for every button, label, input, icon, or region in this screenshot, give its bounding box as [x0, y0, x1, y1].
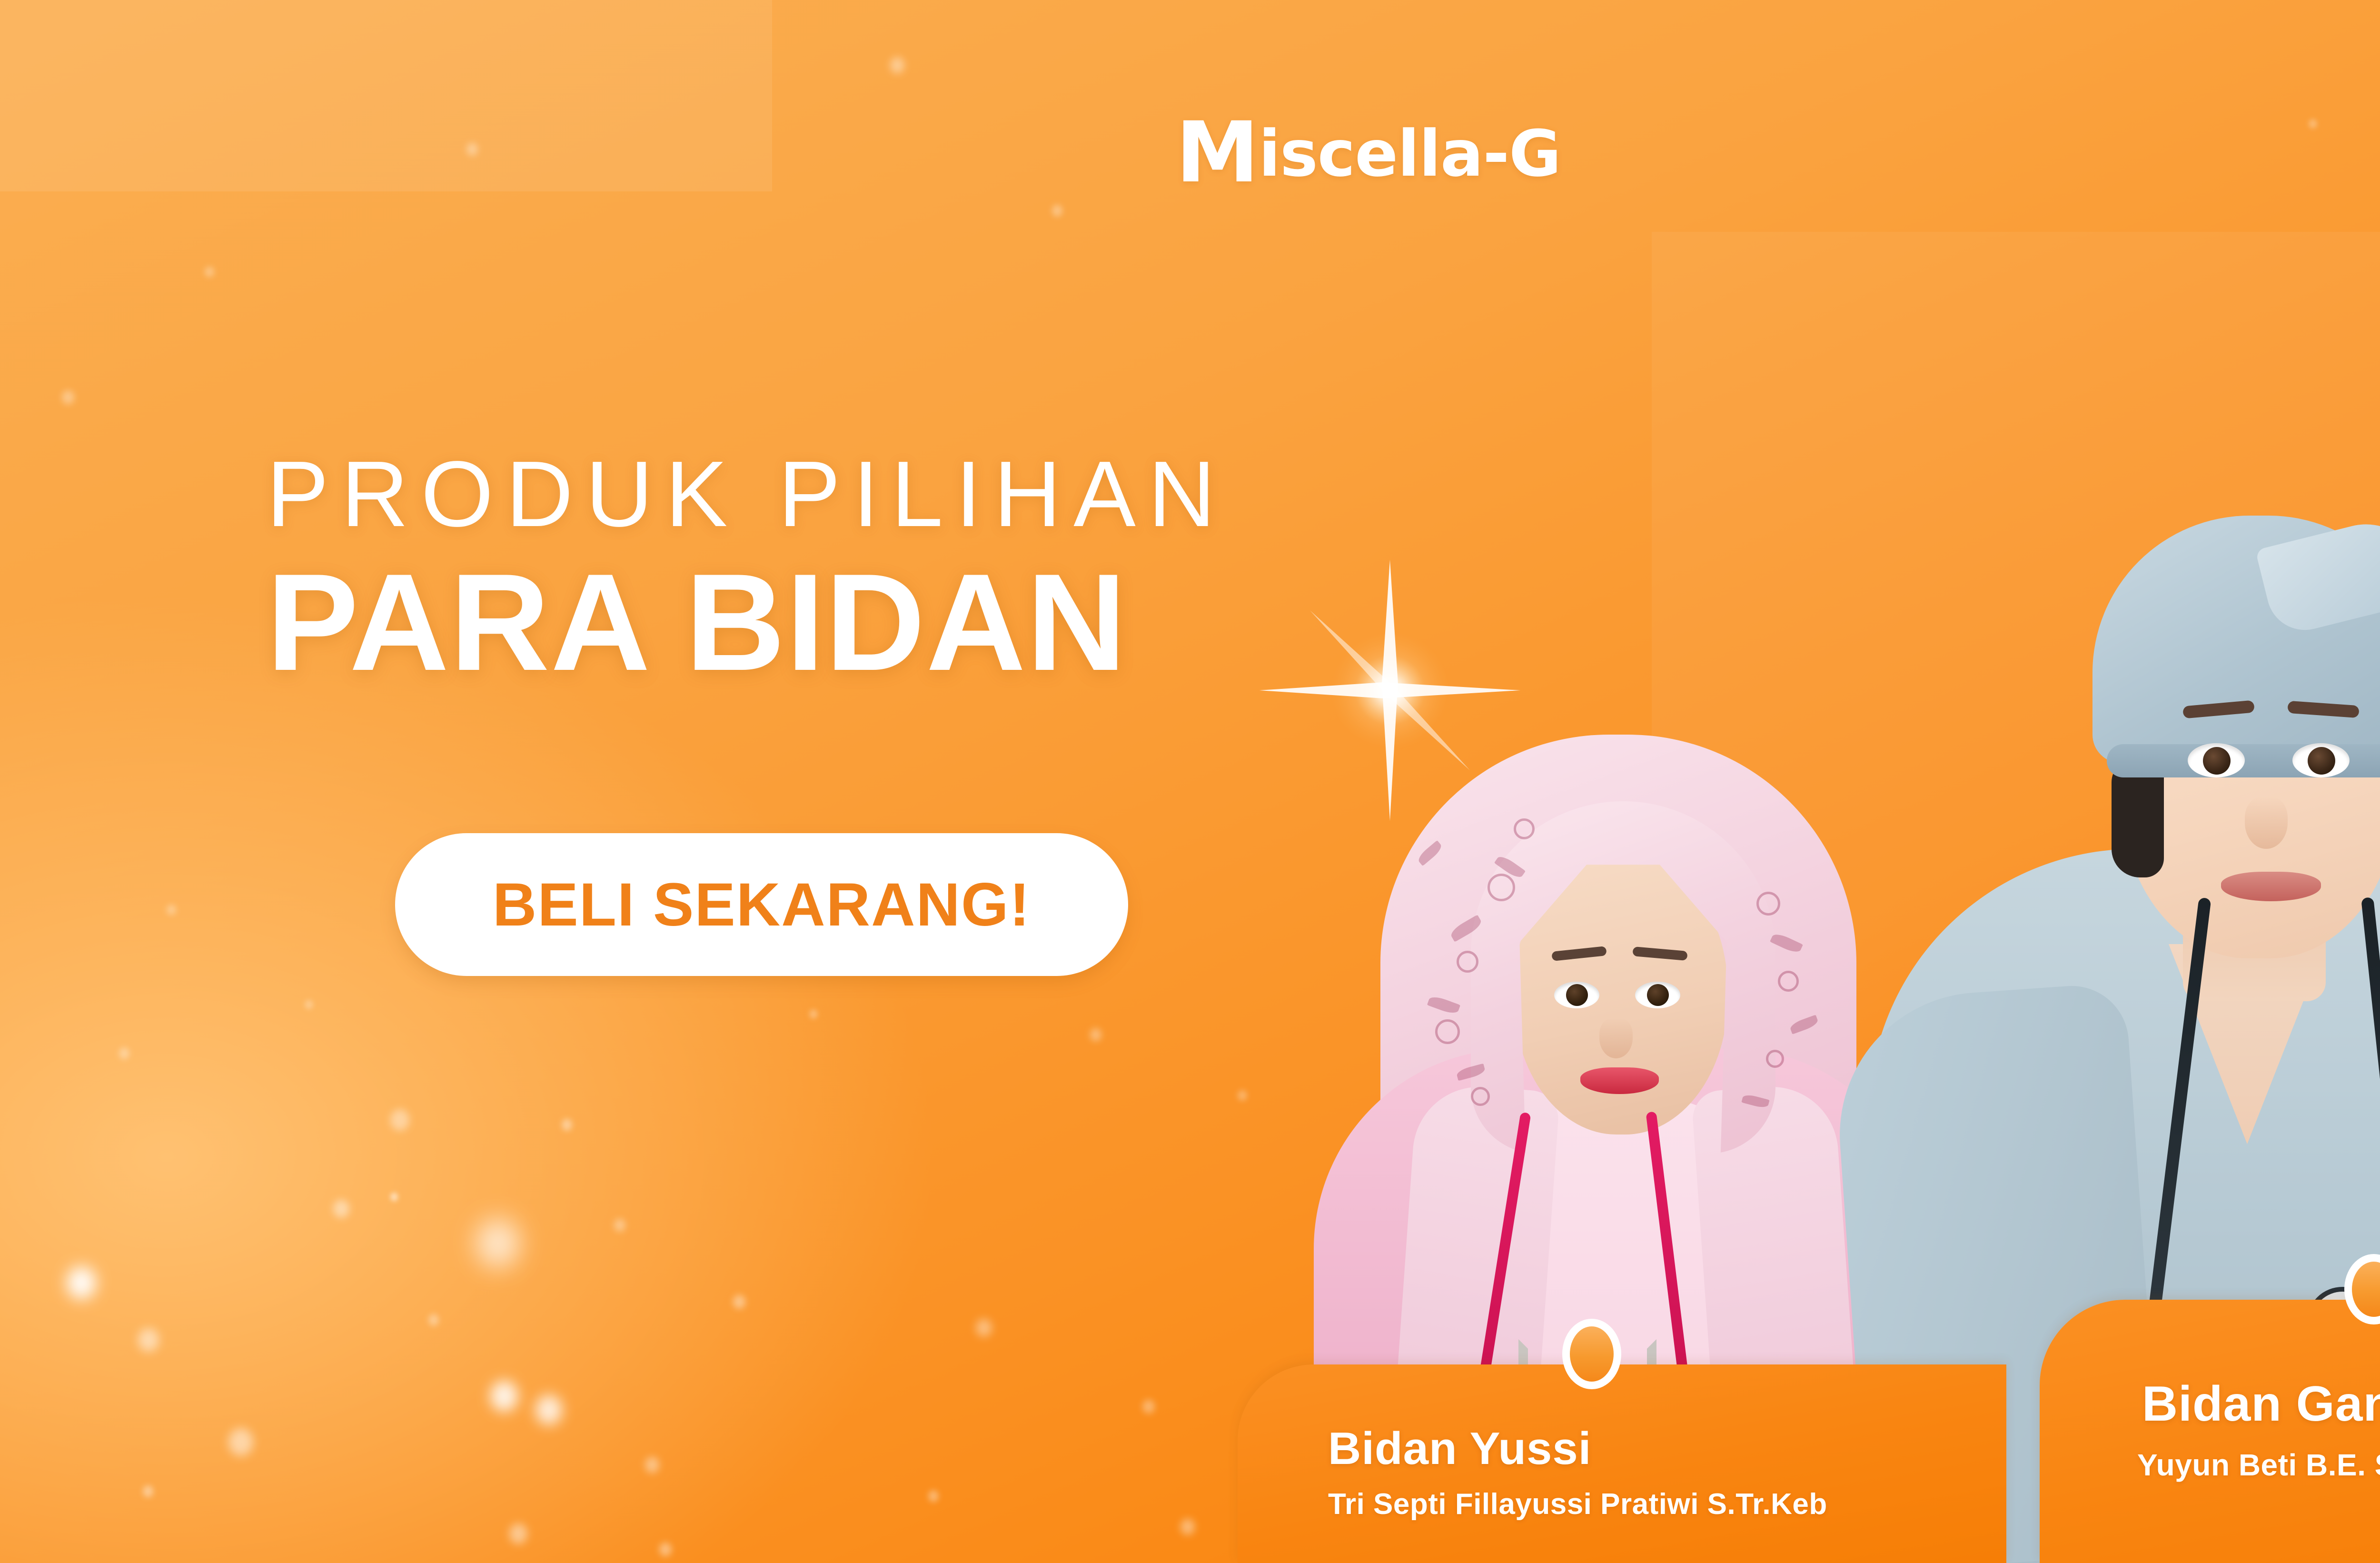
bokeh-dot-icon [928, 1490, 939, 1502]
name-card-subtitle: Yuyun Beti B.E. STr. Keb. Bdn. [2137, 1447, 2380, 1483]
bokeh-dot-icon [2309, 119, 2317, 129]
bokeh-dot-icon [119, 1047, 129, 1059]
beli-sekarang-button-label: BELI SEKARANG! [493, 870, 1031, 940]
bokeh-dot-icon [614, 1219, 625, 1232]
bokeh-dot-icon [1238, 1090, 1247, 1101]
headline-line-1: PRODUK PILIHAN [267, 448, 1228, 541]
bokeh-dot-icon [333, 1200, 349, 1218]
bokeh-dot-icon [466, 143, 478, 156]
name-card-title: Bidan Ganteng [2142, 1376, 2380, 1433]
bokeh-dot-icon [1142, 1400, 1155, 1414]
brand-logo-rest: iscella-G [1259, 117, 1561, 191]
bokeh-dot-icon [890, 57, 904, 73]
hijab-leaf-motif [1416, 840, 1444, 866]
brand-logo-cap: M [1176, 104, 1259, 201]
bokeh-dot-icon [562, 1119, 572, 1131]
bokeh-dot-icon [138, 1328, 159, 1352]
bokeh-dot-icon [390, 1193, 398, 1201]
bokeh-dot-icon [428, 1314, 439, 1326]
bokeh-dot-icon [62, 390, 74, 404]
bokeh-dot-icon [167, 905, 176, 915]
headline-line-2: PARA BIDAN [267, 553, 1228, 691]
bokeh-dot-icon [659, 1543, 672, 1556]
promo-banner: Miscella-G PRODUK PILIHAN PARA BIDAN BEL… [0, 0, 2380, 1563]
bokeh-dot-icon [509, 1523, 527, 1544]
bokeh-dot-icon [476, 1219, 520, 1268]
bokeh-dot-icon [305, 1000, 313, 1009]
bokeh-dot-icon [143, 1485, 153, 1497]
background-panel-top-left [0, 0, 772, 191]
bokeh-dot-icon [976, 1319, 992, 1337]
bokeh-dot-icon [1090, 1028, 1101, 1041]
bokeh-dot-icon [1052, 205, 1062, 217]
headline-block: PRODUK PILIHAN PARA BIDAN [267, 448, 1228, 691]
beli-sekarang-button[interactable]: BELI SEKARANG! [395, 833, 1128, 976]
name-card-subtitle: Tri Septi Fillayussi Pratiwi S.Tr.Keb [1328, 1487, 1827, 1521]
bokeh-dot-icon [228, 1428, 253, 1456]
name-card-title: Bidan Yussi [1328, 1423, 1591, 1475]
bokeh-dot-icon [1180, 1519, 1195, 1535]
name-card-bidan-ganteng[interactable]: Bidan Ganteng Yuyun Beti B.E. STr. Keb. … [2040, 1300, 2380, 1563]
bokeh-dot-icon [809, 1009, 818, 1019]
ganteng-surgical-cap-fold [2255, 512, 2380, 638]
name-card-bidan-yussi[interactable]: Bidan Yussi Tri Septi Fillayussi Pratiwi… [1238, 1364, 2006, 1563]
bokeh-dot-icon [535, 1395, 562, 1425]
bokeh-dot-icon [205, 267, 214, 277]
bokeh-dot-icon [390, 1109, 409, 1131]
bokeh-dot-icon [733, 1295, 745, 1309]
brand-logo[interactable]: Miscella-G [1176, 117, 1561, 191]
card-marker-dot-icon [1562, 1319, 1621, 1389]
bokeh-dot-icon [645, 1457, 659, 1473]
bokeh-dot-icon [67, 1266, 96, 1299]
bokeh-dot-icon [490, 1381, 518, 1412]
